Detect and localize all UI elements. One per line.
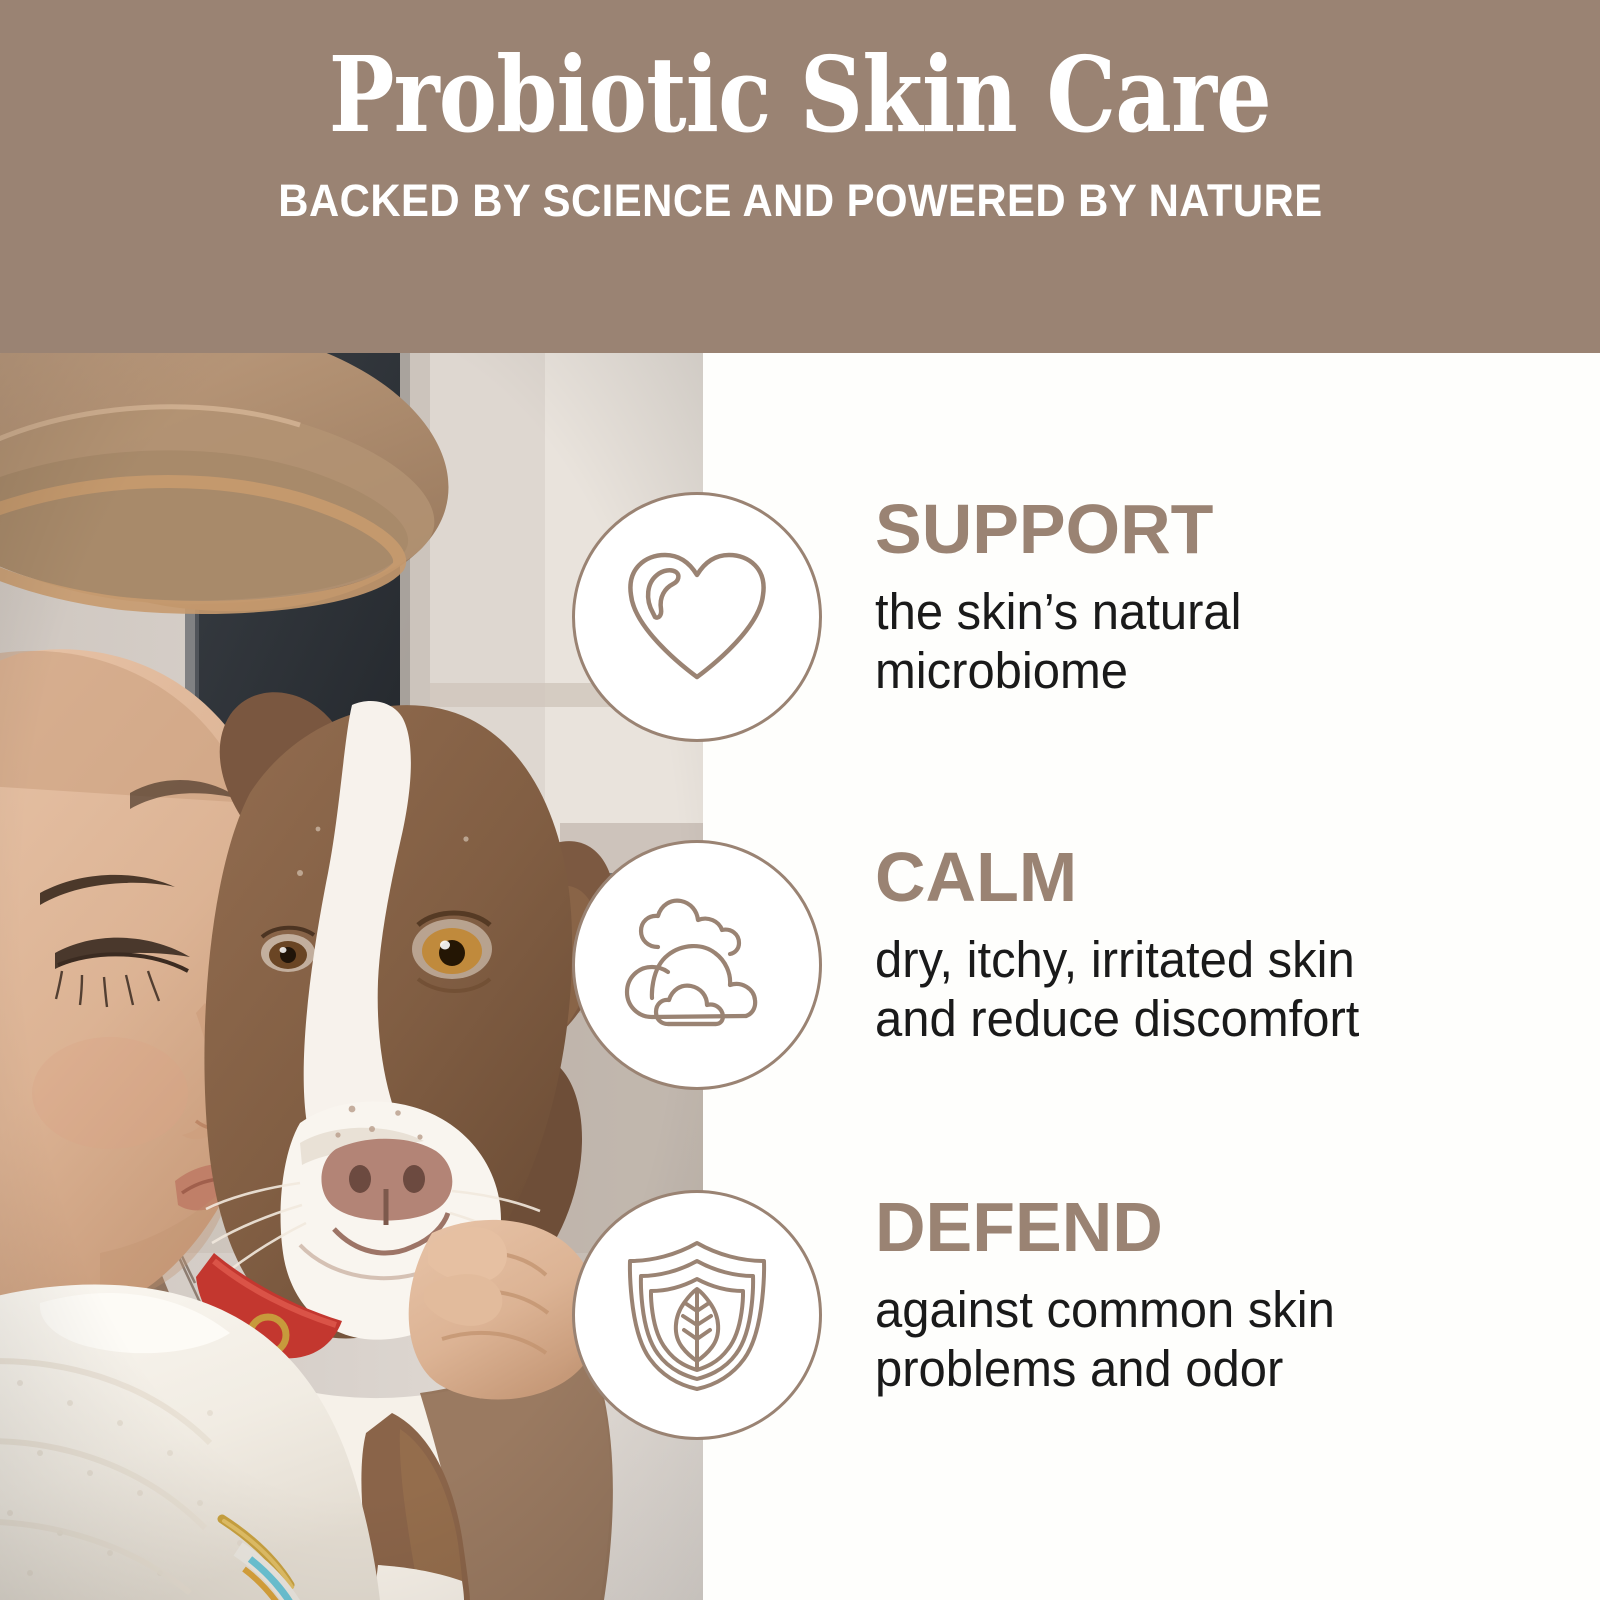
heart-icon (621, 547, 773, 687)
feature-heading: CALM (875, 840, 1575, 912)
clouds-icon-badge (572, 840, 822, 1090)
feature-row-defend: DEFEND against common skin problems and … (572, 1190, 1582, 1440)
clouds-icon (618, 895, 776, 1035)
header-banner: Probiotic Skin Care BACKED BY SCIENCE AN… (0, 0, 1600, 353)
promo-graphic: Probiotic Skin Care BACKED BY SCIENCE AN… (0, 0, 1600, 1600)
feature-text-support: SUPPORT the skin’s natural microbiome (875, 492, 1575, 700)
shield-leaf-icon (622, 1237, 772, 1393)
feature-body: against common skin problems and odor (875, 1262, 1547, 1398)
page-title: Probiotic Skin Care (329, 40, 1271, 149)
feature-row-calm: CALM dry, itchy, irritated skin and redu… (572, 840, 1582, 1090)
heart-icon-badge (572, 492, 822, 742)
feature-text-defend: DEFEND against common skin problems and … (875, 1190, 1575, 1398)
feature-heading: SUPPORT (875, 492, 1575, 564)
shield-leaf-icon-badge (572, 1190, 822, 1440)
feature-body: dry, itchy, irritated skin and reduce di… (875, 912, 1547, 1048)
feature-heading: DEFEND (875, 1190, 1575, 1262)
feature-row-support: SUPPORT the skin’s natural microbiome (572, 492, 1582, 742)
feature-body: the skin’s natural microbiome (875, 564, 1547, 700)
page-subtitle: BACKED BY SCIENCE AND POWERED BY NATURE (278, 175, 1322, 227)
feature-text-calm: CALM dry, itchy, irritated skin and redu… (875, 840, 1575, 1048)
